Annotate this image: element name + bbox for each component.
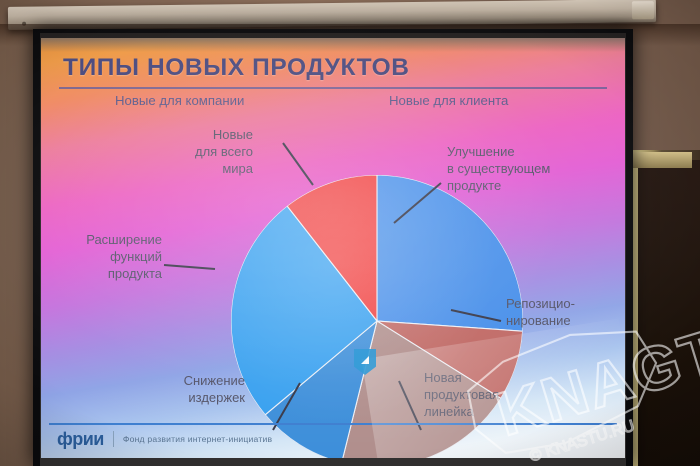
label-new-to-world: Новыедля всегомира (149, 127, 253, 178)
subtitle-new-for-company: Новые для компании (115, 93, 244, 108)
subtitle-new-for-customer: Новые для клиента (389, 93, 508, 108)
title-divider (59, 87, 607, 89)
screenshot-root: ТИПЫ НОВЫХ ПРОДУКТОВ Новые для компании … (0, 0, 700, 466)
door-opening (638, 160, 700, 466)
footer-divider (49, 423, 617, 425)
footer-tagline: Фонд развития интернет-инициатив (123, 434, 272, 444)
label-repositioning: Репозицио-нирование (506, 296, 616, 330)
leader-feature-expansion (164, 265, 215, 269)
label-feature-expansion: Расширениефункцийпродукта (58, 232, 162, 283)
presentation-slide: ТИПЫ НОВЫХ ПРОДУКТОВ Новые для компании … (41, 38, 625, 458)
frii-logo: фрии (57, 429, 104, 450)
pie-slice (377, 175, 523, 331)
slide-footer: фрии Фонд развития интернет-инициатив (57, 427, 272, 451)
label-new-line: Новаяпродуктоваялинейка (424, 370, 544, 421)
label-improvement: Улучшениев существующемпродукте (447, 144, 607, 195)
label-cost-reduction: Снижениеиздержек (121, 373, 245, 407)
roller-end-cap (632, 1, 654, 19)
slide-top-haze (41, 38, 625, 52)
slide-title: ТИПЫ НОВЫХ ПРОДУКТОВ (63, 54, 410, 82)
footer-separator (113, 431, 114, 447)
